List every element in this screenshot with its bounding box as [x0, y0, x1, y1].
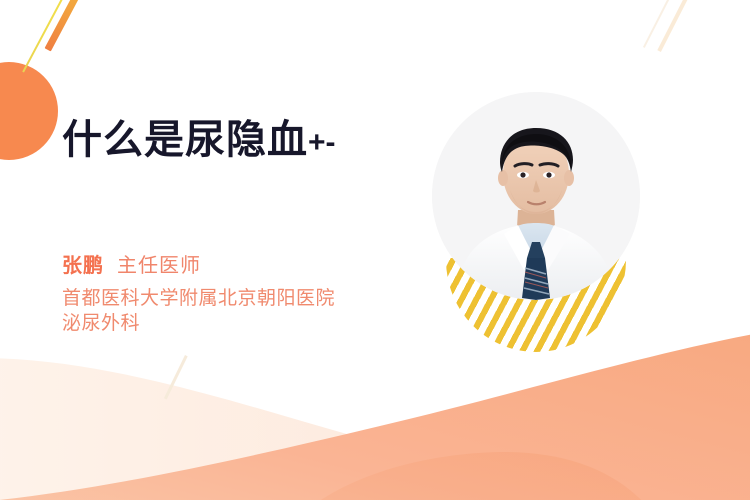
doctor-hospital: 首都医科大学附属北京朝阳医院: [62, 286, 335, 311]
doctor-affiliation: 首都医科大学附属北京朝阳医院 泌尿外科: [62, 286, 335, 336]
page-title-text: 什么是尿隐血: [62, 118, 308, 162]
gold-diagonal-stripe-icon: [45, 0, 91, 51]
page-title-sign: +-: [308, 126, 336, 159]
doctor-identity: 张鹏主任医师: [62, 249, 201, 278]
orange-circle-decoration: [0, 62, 58, 160]
doctor-portrait: [432, 92, 640, 300]
page-title: 什么是尿隐血+-: [62, 118, 336, 162]
portrait-disc: [432, 92, 640, 300]
doctor-name: 张鹏: [62, 255, 104, 277]
cream-diagonal-stripe-icon: [164, 355, 188, 399]
slide-canvas: 什么是尿隐血+- 张鹏主任医师 首都医科大学附属北京朝阳医院 泌尿外科: [0, 0, 750, 500]
doctor-rank: 主任医师: [117, 255, 201, 277]
doctor-department: 泌尿外科: [62, 311, 335, 336]
doctor-portrait-illustration: [432, 92, 640, 300]
